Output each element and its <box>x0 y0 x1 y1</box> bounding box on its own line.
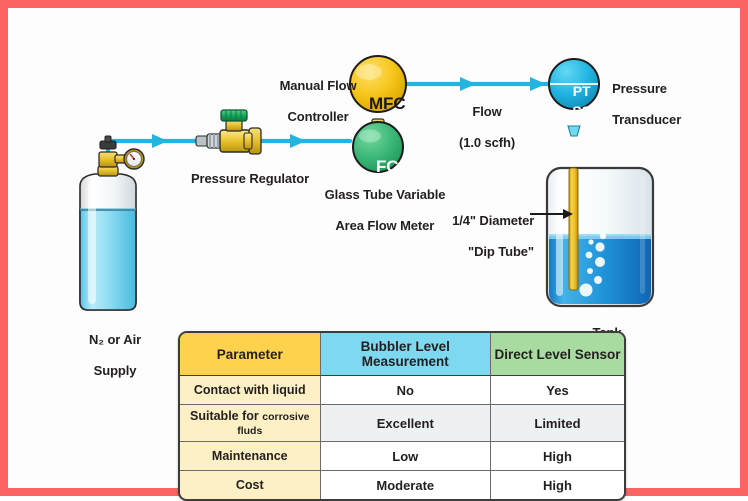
pressure-regulator-label: Pressure Regulator <box>172 156 314 202</box>
comparison-table: Parameter Bubbler Level Measurement Dire… <box>178 331 626 501</box>
cell-bubbler: Excellent <box>321 405 491 442</box>
header-direct: Direct Level Sensor <box>491 333 624 376</box>
cell-parameter-main: Suitable for <box>190 409 262 423</box>
cell-parameter: Maintenance <box>180 442 321 471</box>
cell-bubbler: Moderate <box>321 471 491 499</box>
header-parameter: Parameter <box>180 333 321 376</box>
table-header-row: Parameter Bubbler Level Measurement Dire… <box>180 333 624 376</box>
cell-direct: Limited <box>491 405 624 442</box>
header-bubbler: Bubbler Level Measurement <box>321 333 491 376</box>
tank <box>547 168 653 306</box>
cell-direct: High <box>491 442 624 471</box>
table-row: Cost Moderate High <box>180 471 624 499</box>
cell-bubbler: Low <box>321 442 491 471</box>
cell-parameter: Contact with liquid <box>180 376 321 405</box>
dip-tube-label: 1/4" Diameter "Dip Tube" <box>438 198 534 275</box>
cell-direct: High <box>491 471 624 499</box>
cell-parameter: Suitable for corrosive fluds <box>180 405 321 442</box>
ss-tag-label: SS <box>554 86 594 136</box>
table-row: Contact with liquid No Yes <box>180 376 624 405</box>
cell-direct: Yes <box>491 376 624 405</box>
cell-bubbler: No <box>321 376 491 405</box>
pressure-transducer-label: Pressure Transducer <box>598 66 708 143</box>
table-row: Maintenance Low High <box>180 442 624 471</box>
gas-cylinder <box>80 136 144 310</box>
glass-tube-flow-meter-label: Glass Tube Variable Area Flow Meter <box>309 172 447 249</box>
diagram-canvas: MFC FC PT SS Manual Flow Controller Glas… <box>0 0 748 496</box>
gas-supply-label: N₂ or Air Supply <box>56 317 160 394</box>
manual-flow-controller-label: Manual Flow Controller <box>248 63 374 140</box>
table-row: Suitable for corrosive fluds Excellent L… <box>180 405 624 442</box>
flow-rate-label: Flow (1.0 scfh) <box>436 89 524 166</box>
cell-parameter: Cost <box>180 471 321 499</box>
